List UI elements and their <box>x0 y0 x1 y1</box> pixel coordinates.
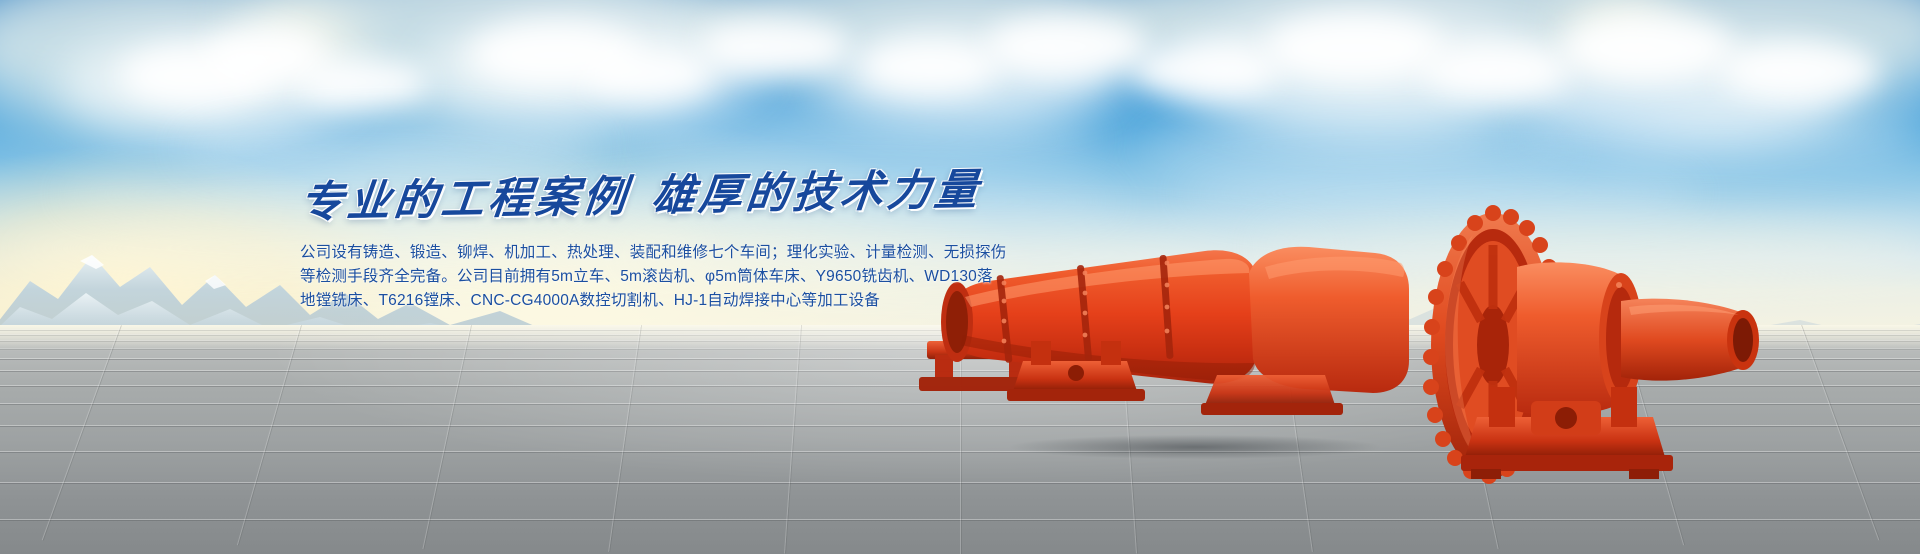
banner-text-block: 专业的工程案例雄厚的技术力量 公司设有铸造、锻造、铆焊、机加工、热处理、装配和维… <box>300 182 1200 313</box>
description-line-2: 等检测手段齐全完备。公司目前拥有5m立车、5m滚齿机、φ5m筒体车床、Y9650… <box>300 265 1200 289</box>
description-line-1: 公司设有铸造、锻造、铆焊、机加工、热处理、装配和维修七个车间；理化实验、计量检测… <box>300 241 1200 265</box>
headline-part-2: 雄厚的技术力量 <box>649 167 984 220</box>
hero-banner: 专业的工程案例雄厚的技术力量 公司设有铸造、锻造、铆焊、机加工、热处理、装配和维… <box>0 0 1920 554</box>
headline-part-1: 专业的工程案例 <box>298 174 633 227</box>
banner-description: 公司设有铸造、锻造、铆焊、机加工、热处理、装配和维修七个车间；理化实验、计量检测… <box>300 241 1200 313</box>
description-line-3: 地镗铣床、T6216镗床、CNC-CG4000A数控切割机、HJ-1自动焊接中心… <box>300 289 1200 313</box>
